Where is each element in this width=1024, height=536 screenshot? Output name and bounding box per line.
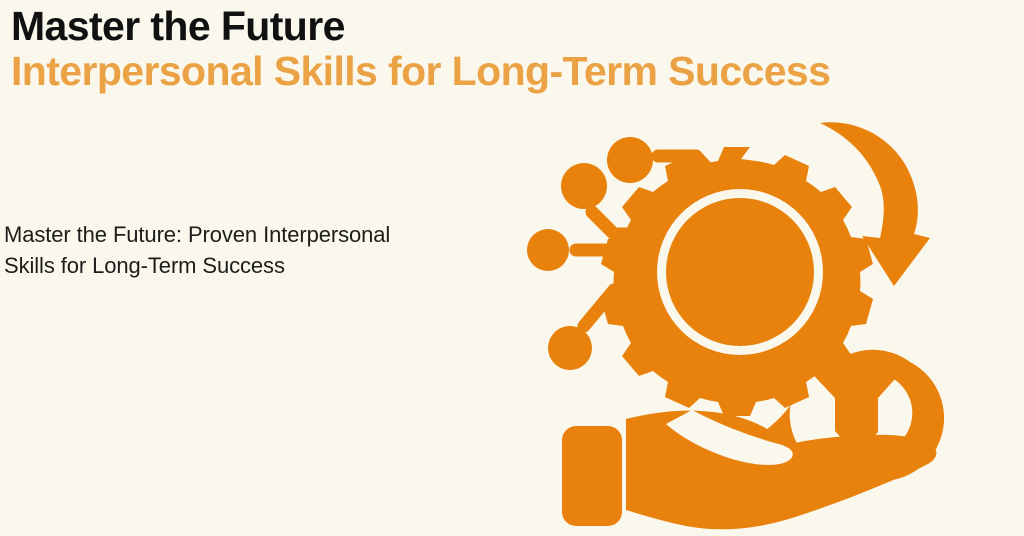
headline-line-secondary: Interpersonal Skills for Long-Term Succe… bbox=[11, 48, 1011, 94]
body-text-line-1: Master the Future: Proven Interpersonal bbox=[4, 219, 484, 250]
headline-line-primary: Master the Future bbox=[11, 4, 1011, 48]
network-dot-icon bbox=[607, 137, 653, 183]
network-dot-icon bbox=[548, 326, 592, 370]
network-dot-icon bbox=[561, 163, 607, 209]
body-text-line-2: Skills for Long-Term Success bbox=[4, 250, 484, 281]
network-dot-icon bbox=[527, 229, 569, 271]
sleeve-cuff-icon bbox=[562, 426, 622, 526]
body-text: Master the Future: Proven Interpersonal … bbox=[4, 219, 484, 281]
page-title: Master the Future Interpersonal Skills f… bbox=[11, 4, 1011, 94]
promo-banner: Master the Future Interpersonal Skills f… bbox=[0, 0, 1024, 536]
gear-wrench-hand-illustration bbox=[506, 104, 976, 536]
